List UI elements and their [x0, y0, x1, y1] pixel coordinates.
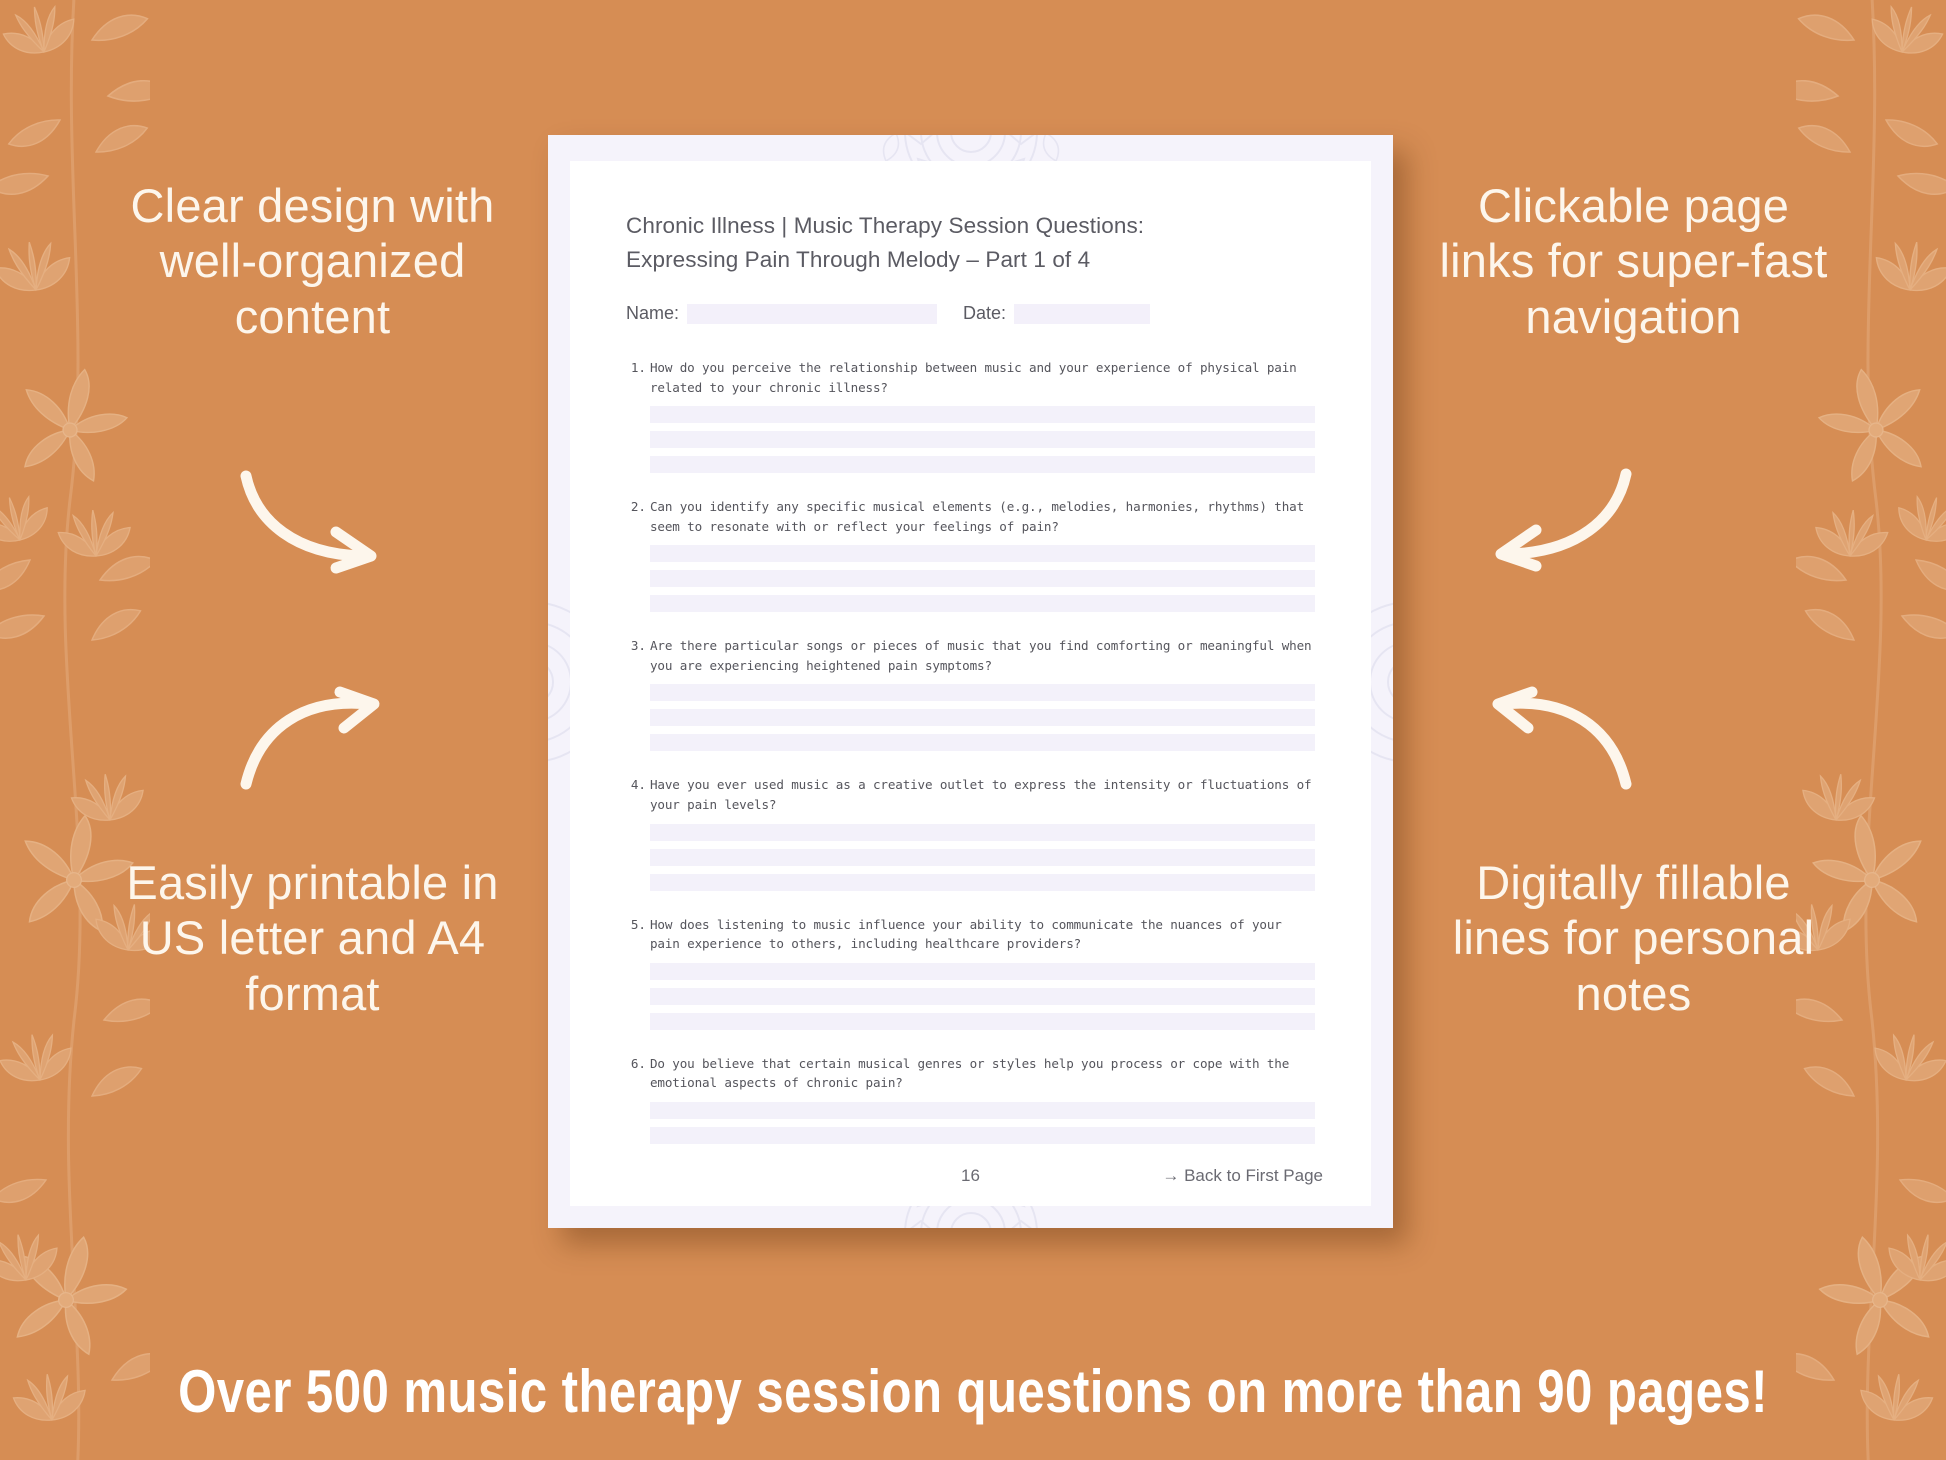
name-input[interactable]: [687, 304, 937, 324]
question-number: 4.: [626, 775, 650, 898]
answer-line[interactable]: [650, 1127, 1315, 1144]
question-body: Can you identify any specific musical el…: [650, 497, 1315, 620]
question-item: 1.How do you perceive the relationship b…: [626, 358, 1315, 481]
answer-lines: [650, 684, 1315, 751]
question-number: 5.: [626, 915, 650, 1038]
answer-line[interactable]: [650, 734, 1315, 751]
worksheet-page: Chronic Illness | Music Therapy Session …: [548, 135, 1393, 1228]
answer-line[interactable]: [650, 1013, 1315, 1030]
curved-arrow-down-left-icon: [1482, 468, 1632, 568]
answer-lines: [650, 406, 1315, 473]
date-label: Date:: [963, 303, 1006, 324]
worksheet-title-line-2: Expressing Pain Through Melody – Part 1 …: [626, 243, 1315, 277]
answer-line[interactable]: [650, 963, 1315, 980]
question-body: Have you ever used music as a creative o…: [650, 775, 1315, 898]
answer-line[interactable]: [650, 406, 1315, 423]
question-text: How does listening to music influence yo…: [650, 915, 1315, 954]
callout-clear-design: Clear design with well-organized content: [105, 178, 520, 344]
worksheet-content: Chronic Illness | Music Therapy Session …: [570, 161, 1371, 1146]
answer-lines: [650, 824, 1315, 891]
question-text: Are there particular songs or pieces of …: [650, 636, 1315, 675]
question-item: 5.How does listening to music influence …: [626, 915, 1315, 1038]
answer-line[interactable]: [650, 874, 1315, 891]
answer-lines: [650, 963, 1315, 1030]
question-text: How do you perceive the relationship bet…: [650, 358, 1315, 397]
answer-line[interactable]: [650, 431, 1315, 448]
back-to-first-page-link[interactable]: → Back to First Page: [1162, 1166, 1323, 1186]
callout-clickable-links: Clickable page links for super-fast navi…: [1426, 178, 1841, 344]
answer-line[interactable]: [650, 849, 1315, 866]
callout-fillable-lines: Digitally fillable lines for personal no…: [1426, 855, 1841, 1021]
question-number: 1.: [626, 358, 650, 481]
answer-line[interactable]: [650, 988, 1315, 1005]
answer-line[interactable]: [650, 570, 1315, 587]
question-number: 2.: [626, 497, 650, 620]
question-text: Have you ever used music as a creative o…: [650, 775, 1315, 814]
worksheet-footer: 16 → Back to First Page: [570, 1146, 1371, 1206]
worksheet-page-preview[interactable]: Chronic Illness | Music Therapy Session …: [548, 135, 1393, 1228]
answer-line[interactable]: [650, 684, 1315, 701]
answer-line[interactable]: [650, 1102, 1315, 1119]
curved-arrow-up-right-icon: [240, 690, 390, 790]
answer-lines: [650, 545, 1315, 612]
question-body: How does listening to music influence yo…: [650, 915, 1315, 1038]
question-text: Do you believe that certain musical genr…: [650, 1054, 1315, 1093]
curved-arrow-up-left-icon: [1482, 690, 1632, 790]
name-date-row: Name: Date:: [626, 303, 1315, 324]
worksheet-title-line-1: Chronic Illness | Music Therapy Session …: [626, 209, 1315, 243]
callout-easily-printable: Easily printable in US letter and A4 for…: [105, 855, 520, 1021]
question-item: 2.Can you identify any specific musical …: [626, 497, 1315, 620]
answer-line[interactable]: [650, 709, 1315, 726]
question-item: 3.Are there particular songs or pieces o…: [626, 636, 1315, 759]
promo-banner: Over 500 music therapy session questions…: [175, 1357, 1771, 1426]
answer-line[interactable]: [650, 456, 1315, 473]
question-text: Can you identify any specific musical el…: [650, 497, 1315, 536]
question-body: How do you perceive the relationship bet…: [650, 358, 1315, 481]
question-body: Are there particular songs or pieces of …: [650, 636, 1315, 759]
curved-arrow-down-right-icon: [240, 470, 390, 570]
answer-line[interactable]: [650, 545, 1315, 562]
date-input[interactable]: [1014, 304, 1150, 324]
answer-line[interactable]: [650, 824, 1315, 841]
question-item: 4.Have you ever used music as a creative…: [626, 775, 1315, 898]
question-list: 1.How do you perceive the relationship b…: [626, 358, 1315, 1176]
question-number: 3.: [626, 636, 650, 759]
name-label: Name:: [626, 303, 679, 324]
answer-line[interactable]: [650, 595, 1315, 612]
